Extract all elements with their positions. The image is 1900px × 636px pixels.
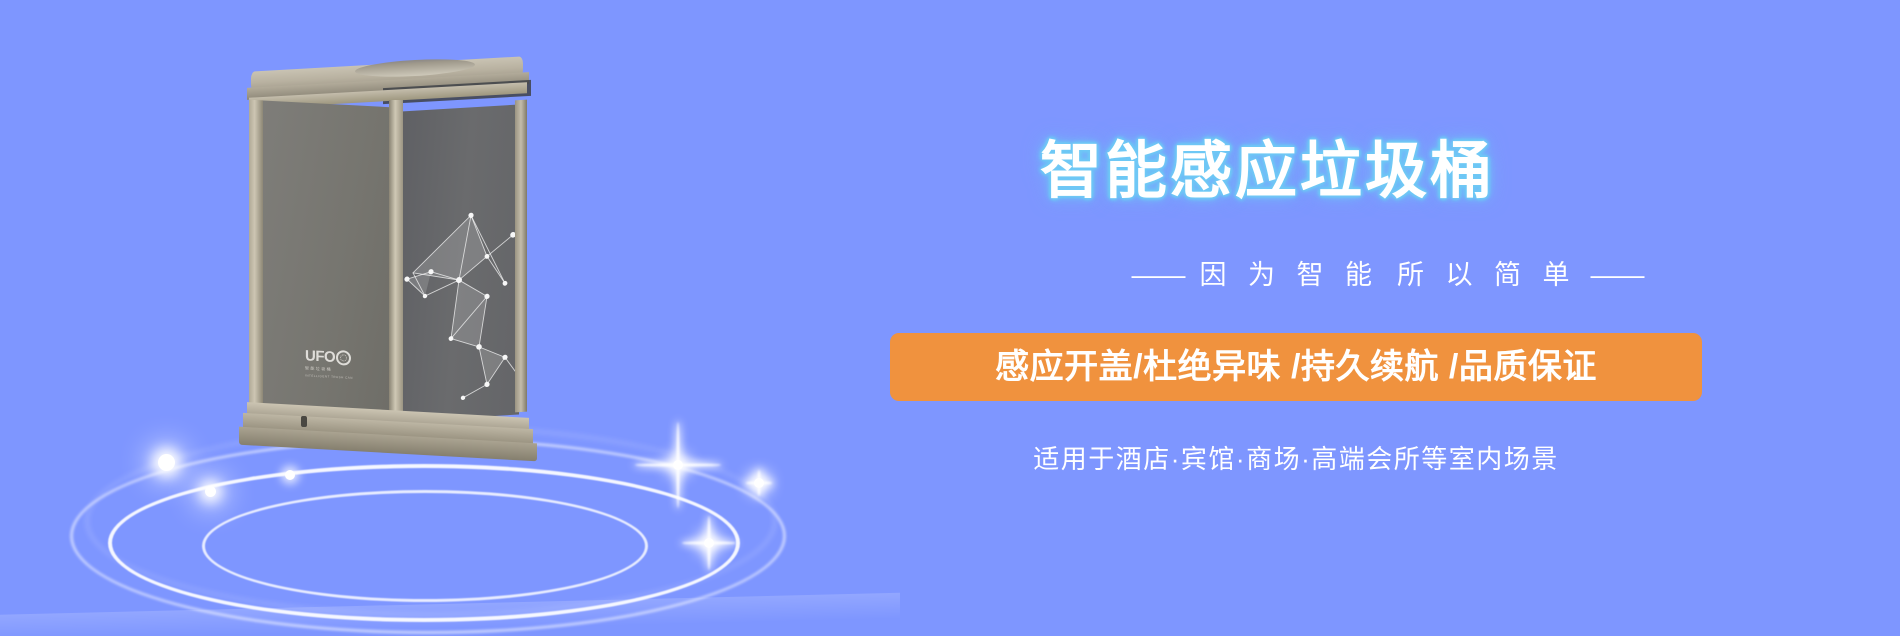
feature-highlight-band: 感应开盖/杜绝异味 /持久续航 /品质保证 [890, 333, 1702, 401]
ufo-wordmark: UFO [305, 348, 335, 365]
trash-can-base [239, 410, 537, 468]
corner-post-right [515, 100, 527, 413]
trash-can-lid [243, 58, 533, 104]
promo-banner: UFO 智能垃圾桶 INTELLIGENT TRASH CAN 智能感应垃圾桶 … [0, 0, 1900, 636]
tagline-text-a: 因 为 智 能 [1199, 260, 1379, 290]
corner-post-left [249, 100, 263, 417]
body-face-right [401, 104, 519, 421]
ufo-ring-icon [336, 350, 351, 366]
trash-can-body: UFO 智能垃圾桶 INTELLIGENT TRASH CAN [249, 100, 527, 418]
headline-title: 智能感应垃圾桶 [1040, 138, 1495, 206]
ufo-wordmark-row: UFO [305, 348, 367, 366]
trash-can-product-image: UFO 智能垃圾桶 INTELLIGENT TRASH CAN [243, 58, 533, 458]
sparkle-icon [758, 482, 760, 484]
tagline-text-b: 所 以 简 单 [1397, 260, 1577, 290]
ufo-brand-logo: UFO 智能垃圾桶 INTELLIGENT TRASH CAN [305, 348, 367, 389]
polygon-network-graphic [401, 194, 519, 411]
product-scene: UFO 智能垃圾桶 INTELLIGENT TRASH CAN [0, 0, 860, 636]
base-keyhole-icon [301, 416, 307, 427]
corner-post-center [389, 100, 403, 420]
feature-highlight-text: 感应开盖/杜绝异味 /持久续航 /品质保证 [995, 347, 1597, 387]
application-scenarios-text: 适用于酒店·宾馆·商场·高端会所等室内场景 [890, 442, 1702, 476]
subheadline-tagline: ——因 为 智 能所 以 简 单—— [888, 258, 1888, 292]
marketing-text-block: 智能感应垃圾桶 ——因 为 智 能所 以 简 单—— 感应开盖/杜绝异味 /持久… [880, 0, 1900, 636]
tagline-dash-left: —— [1131, 258, 1185, 292]
sparkle-icon [677, 464, 679, 466]
glow-dot-icon [285, 470, 295, 480]
ufo-tagline-en: INTELLIGENT TRASH CAN [305, 373, 367, 380]
glow-dot-icon [205, 486, 216, 497]
tagline-dash-right: —— [1591, 258, 1645, 292]
glow-dot-icon [158, 454, 175, 471]
sparkle-icon [708, 542, 710, 544]
ripple-ring-inner [202, 490, 648, 602]
